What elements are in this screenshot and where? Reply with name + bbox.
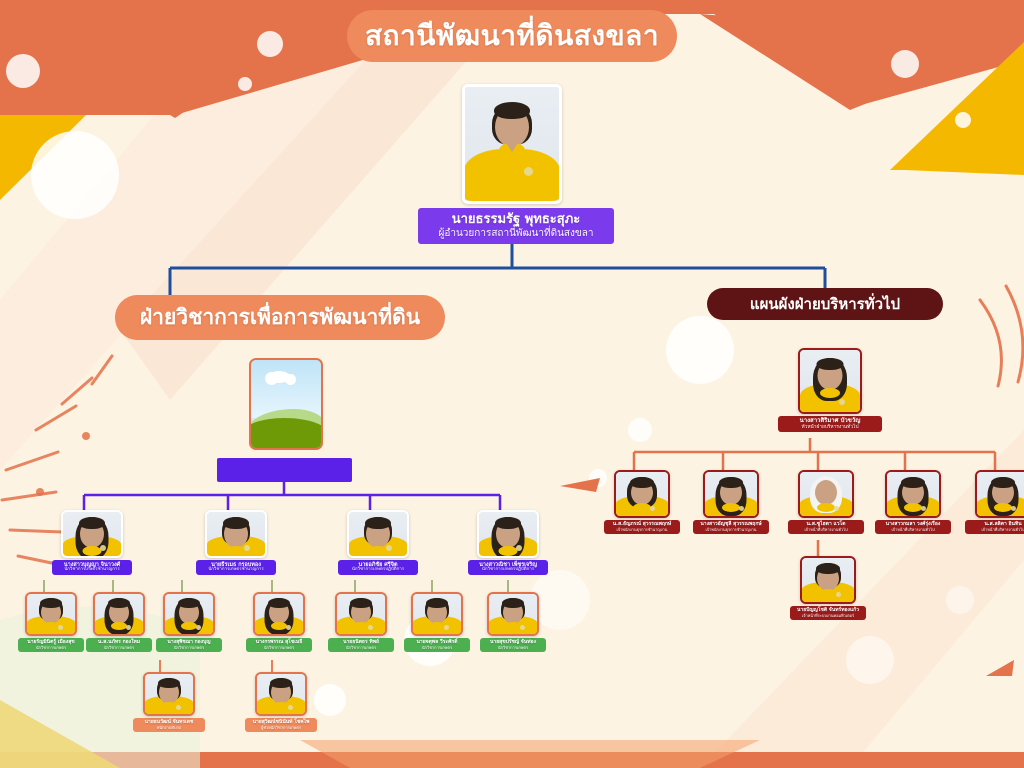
director-name: นายธรรมรัฐ พุทธะสุภะ	[452, 213, 581, 228]
person-label: นายจตุพล วีระศักดิ์ นักวิชาการเกษตร	[404, 638, 470, 652]
person-photo[interactable]	[255, 672, 307, 716]
person-photo[interactable]	[800, 556, 856, 604]
person-photo[interactable]	[205, 510, 267, 558]
org-chart-canvas: สถานีพัฒนาที่ดินสงขลา นายธรรมรัฐ พุทธะสุ…	[0, 0, 1024, 768]
director-label: นายธรรมรัฐ พุทธะสุภะ ผู้อำนวยการสถานีพัฒ…	[418, 208, 614, 244]
person-label: น.ส.ซูไฮดา แวโด เจ้าหน้าที่บริหารงานทั่ว…	[788, 520, 864, 534]
division-header-academic: ฝ่ายวิชาการเพื่อการพัฒนาที่ดิน	[115, 295, 445, 340]
person-label: นายปัญญโชติ จันทร์ทองแก้ว เจ้าหน้าที่ระบ…	[790, 606, 866, 620]
person-role: นักวิชาการเกษตร	[90, 646, 148, 650]
person-label: น.ส.ลลิตา อินทิน เจ้าหน้าที่บริหารงานทั่…	[965, 520, 1024, 534]
person-role: นักวิชาการเกษตร	[250, 646, 308, 650]
person-card[interactable]: นางกรพรรณ สุโขเมธี นักวิชาการเกษตร	[246, 592, 312, 652]
person-card[interactable]: นายอภิชัย ศรีจิต นักวิชาการเกษตรปฏิบัติก…	[338, 510, 418, 575]
person-label: นายอภิชัย ศรีจิต นักวิชาการเกษตรปฏิบัติก…	[338, 560, 418, 575]
person-card[interactable]: นางสาวณิชา เพ็ชรเจริญ นักวิชาการเกษตรปฏิ…	[468, 510, 548, 575]
person-card[interactable]: นางสาวกมลา วงศ์รุ่งเรือง เจ้าหน้าที่บริห…	[875, 470, 951, 534]
person-photo[interactable]	[477, 510, 539, 558]
person-label: นางสาวณิชา เพ็ชรเจริญ นักวิชาการเกษตรปฏิ…	[468, 560, 548, 575]
person-role: นักวิชาการเกษตรชำนาญการ	[56, 568, 128, 573]
person-card[interactable]: นางสาวอัญชุลี สุวรรณพฤกษ์ เจ้าพนักงานธุร…	[693, 470, 769, 534]
person-card[interactable]: นายธนวัฒน์ จันทรเดช พนักงานขับรถ	[133, 672, 205, 732]
person-role: ผู้ช่วยนักวิชาการเกษตร	[249, 726, 313, 730]
person-card[interactable]: นางสุพิชฌา กองบุญ นักวิชาการเกษตร	[156, 592, 222, 652]
person-card[interactable]: นายปัญญโชติ จันทร์ทองแก้ว เจ้าหน้าที่ระบ…	[790, 556, 866, 620]
person-role: นักวิชาการเกษตรชำนาญการ	[200, 568, 272, 573]
person-label: นายธีรเมธ กรอบทอง นักวิชาการเกษตรชำนาญกา…	[196, 560, 276, 575]
person-role: เจ้าหน้าที่บริหารงานทั่วไป	[879, 528, 947, 532]
person-card[interactable]: นายสุขปรัชญ์ จันท่อง นักวิชาการเกษตร	[480, 592, 546, 652]
person-photo[interactable]	[798, 348, 862, 414]
division-header-administration: แผนผังฝ่ายบริหารทั่วไป	[707, 288, 943, 320]
person-card[interactable]: น.ส.นภัทร กองใหม นักวิชาการเกษตร	[86, 592, 152, 652]
person-label: นางกรพรรณ สุโขเมธี นักวิชาการเกษตร	[246, 638, 312, 652]
person-photo[interactable]	[93, 592, 145, 636]
person-card[interactable]: นางสาวบุญญา จินาวงศ์ นักวิชาการเกษตรชำนา…	[52, 510, 132, 575]
person-label: นายธนิตธร ทิพย์ นักวิชาการเกษตร	[328, 638, 394, 652]
person-role: เจ้าพนักงานธุรการชำนาญงาน	[697, 528, 765, 532]
person-label: นายสุวิฒน์ชนินันท์ โชคไพ ผู้ช่วยนักวิชาก…	[245, 718, 317, 732]
director-photo[interactable]	[462, 84, 562, 204]
person-photo[interactable]	[61, 510, 123, 558]
person-role: พนักงานขับรถ	[137, 726, 201, 730]
person-card[interactable]: นายสุวิฒน์ชนินันท์ โชคไพ ผู้ช่วยนักวิชาก…	[245, 672, 317, 732]
person-photo[interactable]	[703, 470, 759, 518]
person-label: นายรัญมินิตรู้ เมืองสุข นักวิชาการเกษตร	[18, 638, 84, 652]
person-label: นายสุขปรัชญ์ จันท่อง นักวิชาการเกษตร	[480, 638, 546, 652]
person-card[interactable]: นายธีรเมธ กรอบทอง นักวิชาการเกษตรชำนาญกา…	[196, 510, 276, 575]
person-role: เจ้าหน้าที่บริหารงานทั่วไป	[969, 528, 1024, 532]
person-photo[interactable]	[335, 592, 387, 636]
person-photo[interactable]	[614, 470, 670, 518]
person-role: นักวิชาการเกษตร	[332, 646, 390, 650]
person-card[interactable]: นายธนิตธร ทิพย์ นักวิชาการเกษตร	[328, 592, 394, 652]
person-label: น.ส.ธัญภรณ์ สุวรรณพฤกษ์ เจ้าพนักงานธุรกา…	[604, 520, 680, 534]
person-role: นักวิชาการเกษตร	[160, 646, 218, 650]
person-photo[interactable]	[253, 592, 305, 636]
person-photo[interactable]	[798, 470, 854, 518]
person-label: นางสาวกมลา วงศ์รุ่งเรือง เจ้าหน้าที่บริห…	[875, 520, 951, 534]
person-role: เจ้าหน้าที่บริหารงานทั่วไป	[792, 528, 860, 532]
person-role: นักวิชาการเกษตร	[484, 646, 542, 650]
person-role: เจ้าพนักงานธุรการชำนาญงาน	[608, 528, 676, 532]
person-photo[interactable]	[143, 672, 195, 716]
person-card[interactable]: นายจตุพล วีระศักดิ์ นักวิชาการเกษตร	[404, 592, 470, 652]
person-photo[interactable]	[487, 592, 539, 636]
person-card[interactable]: น.ส.ซูไฮดา แวโด เจ้าหน้าที่บริหารงานทั่ว…	[788, 470, 864, 534]
person-name: นางสาวสิริมาศ บัวขวัญ	[782, 418, 878, 425]
person-label: นางสาวสิริมาศ บัวขวัญ หัวหน้าฝ่ายบริหารง…	[778, 416, 882, 432]
person-photo[interactable]	[163, 592, 215, 636]
person-card[interactable]: นายรัญมินิตรู้ เมืองสุข นักวิชาการเกษตร	[18, 592, 84, 652]
director-role: ผู้อำนวยการสถานีพัฒนาที่ดินสงขลา	[438, 228, 593, 239]
person-label: นางสาวอัญชุลี สุวรรณพฤกษ์ เจ้าพนักงานธุร…	[693, 520, 769, 534]
page-title: สถานีพัฒนาที่ดินสงขลา	[347, 10, 677, 62]
person-role: นักวิชาการเกษตร	[22, 646, 80, 650]
person-photo[interactable]	[885, 470, 941, 518]
person-label: นางสาวบุญญา จินาวงศ์ นักวิชาการเกษตรชำนา…	[52, 560, 132, 575]
person-role: หัวหน้าฝ่ายบริหารงานทั่วไป	[782, 425, 878, 430]
person-card[interactable]: น.ส.ลลิตา อินทิน เจ้าหน้าที่บริหารงานทั่…	[965, 470, 1024, 534]
person-role: นักวิชาการเกษตร	[408, 646, 466, 650]
person-photo[interactable]	[347, 510, 409, 558]
landscape-thumbnail[interactable]	[249, 358, 319, 446]
person-label: น.ส.นภัทร กองใหม นักวิชาการเกษตร	[86, 638, 152, 652]
person-photo[interactable]	[25, 592, 77, 636]
person-label: นางสุพิชฌา กองบุญ นักวิชาการเกษตร	[156, 638, 222, 652]
person-card[interactable]: นางสาวสิริมาศ บัวขวัญ หัวหน้าฝ่ายบริหารง…	[778, 348, 882, 432]
person-role: นักวิชาการเกษตรปฏิบัติการ	[472, 568, 544, 573]
person-photo[interactable]	[975, 470, 1024, 518]
academic-placeholder-label	[217, 458, 352, 482]
person-label: นายธนวัฒน์ จันทรเดช พนักงานขับรถ	[133, 718, 205, 732]
person-photo[interactable]	[411, 592, 463, 636]
person-role: เจ้าหน้าที่ระบบงานคอมพิวเตอร์	[794, 614, 862, 618]
person-card[interactable]: น.ส.ธัญภรณ์ สุวรรณพฤกษ์ เจ้าพนักงานธุรกา…	[604, 470, 680, 534]
person-role: นักวิชาการเกษตรปฏิบัติการ	[342, 568, 414, 573]
